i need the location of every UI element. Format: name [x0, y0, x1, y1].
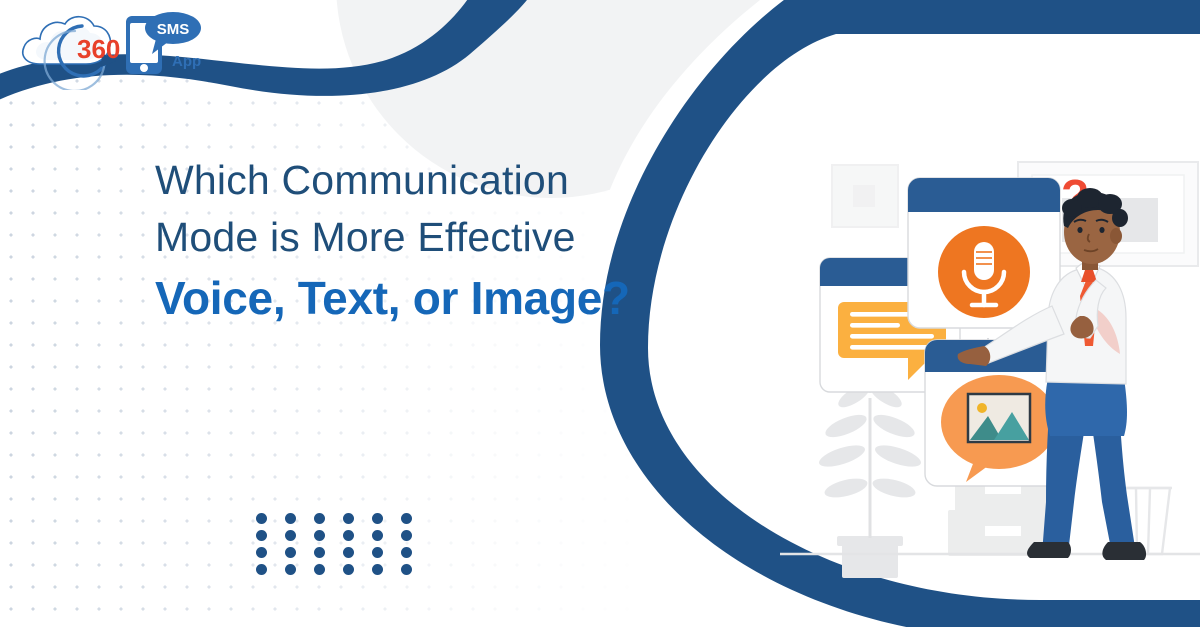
headline-block: Which Communication Mode is More Effecti…: [155, 152, 755, 330]
dot: [401, 564, 412, 575]
dot: [285, 564, 296, 575]
logo-sms-text: SMS: [157, 21, 190, 38]
dot: [256, 530, 267, 541]
dot: [285, 530, 296, 541]
dot: [401, 530, 412, 541]
dot: [372, 564, 383, 575]
shoe-right: [1102, 542, 1146, 560]
headline-line-2: Mode is More Effective: [155, 209, 755, 266]
dot: [372, 513, 383, 524]
dot: [256, 547, 267, 558]
dot: [285, 513, 296, 524]
dot: [372, 547, 383, 558]
dot-grid-ornament: [256, 513, 416, 575]
microphone-icon: [938, 226, 1030, 318]
wall-square-decor: [832, 165, 898, 227]
illustration-communication-modes: ?: [780, 150, 1200, 580]
dot: [343, 513, 354, 524]
phone-home-button: [140, 64, 148, 72]
dot: [314, 513, 325, 524]
dot: [314, 564, 325, 575]
shoe-left: [1027, 542, 1071, 558]
dot: [256, 564, 267, 575]
dot: [285, 547, 296, 558]
dot: [401, 547, 412, 558]
potted-plant-decor: [817, 363, 924, 578]
card-voice-message[interactable]: [908, 178, 1060, 328]
headline-line-1: Which Communication: [155, 152, 755, 209]
dot: [372, 530, 383, 541]
dot: [343, 530, 354, 541]
dot: [343, 564, 354, 575]
logo-app-text: App: [172, 53, 201, 70]
logo-360-text: 360: [77, 34, 120, 64]
logo-360-sms-app[interactable]: 360 SMS App: [18, 4, 208, 90]
dot: [314, 547, 325, 558]
headline-line-3: Voice, Text, or Image?: [155, 266, 755, 330]
dot: [343, 547, 354, 558]
dot: [314, 530, 325, 541]
dot: [401, 513, 412, 524]
banner-root: 360 SMS App Which Communication Mode is …: [0, 0, 1200, 627]
dot: [256, 513, 267, 524]
